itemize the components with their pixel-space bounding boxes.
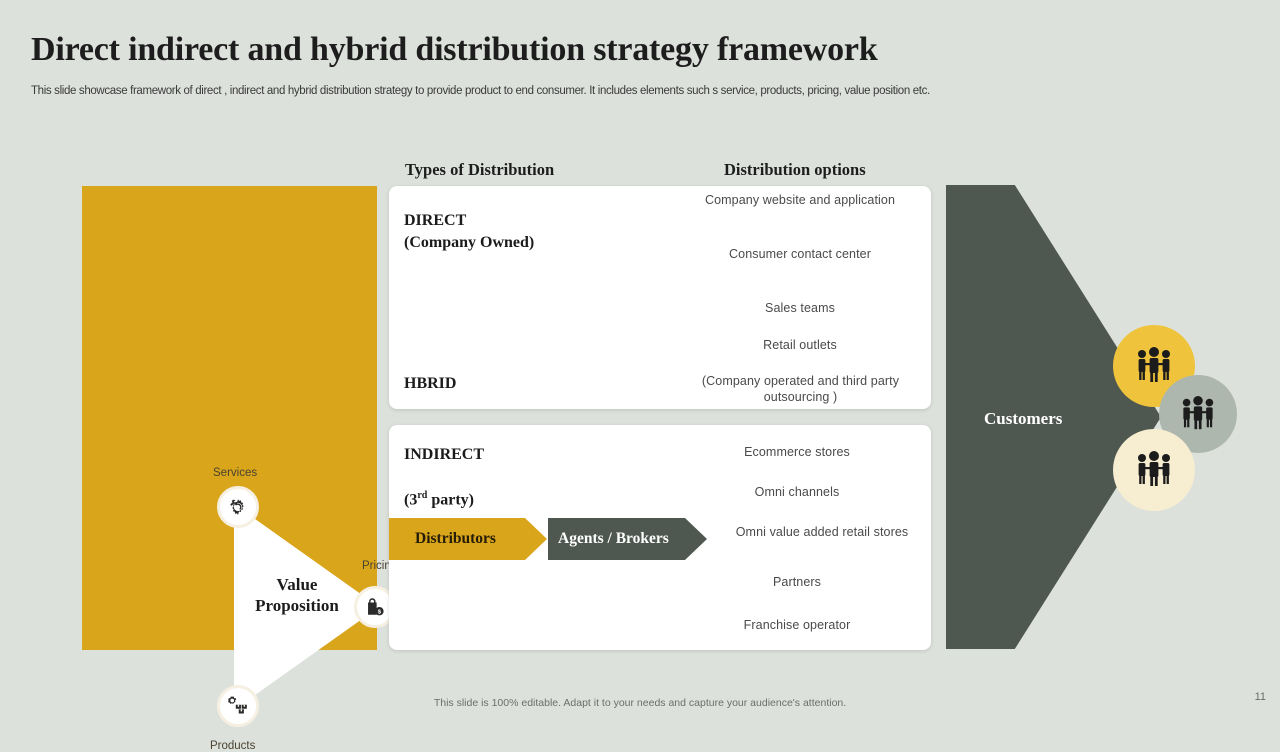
direct-option-0: Company website and application [700,192,900,208]
indirect-option-3: Partners [697,574,897,590]
gear-wrench-icon [227,496,249,518]
indirect-option-0: Ecommerce stores [697,444,897,460]
customers-label: Customers [984,409,1062,429]
direct-option-3: Retail outlets [700,337,900,353]
value-proposition-title: Value Proposition [242,574,352,616]
third-party-label: (3rd party) [404,485,474,511]
footer-note: This slide is 100% editable. Adapt it to… [0,697,1280,709]
distributors-chevron-label: Distributors [389,530,496,548]
direct-type-line1: DIRECT [404,210,534,232]
indirect-option-2: Omni value added retail stores [697,524,947,540]
distributors-chevron[interactable]: Distributors [389,518,547,560]
direct-option-1: Consumer contact center [700,246,900,262]
services-label: Services [213,467,257,479]
indirect-type-label: INDIRECT [404,444,484,466]
direct-option-2: Sales teams [700,300,900,316]
products-label: Products [210,740,255,752]
third-party-suffix: party) [427,491,474,508]
direct-option-4: (Company operated and third party outsou… [698,373,903,405]
value-proposition-line1: Value [242,574,352,595]
agents-brokers-chevron[interactable]: Agents / Brokers [548,518,707,560]
indirect-option-1: Omni channels [697,484,897,500]
third-party-prefix: (3 [404,491,417,508]
value-proposition-panel: Value Proposition Services Pricing $ [82,186,377,650]
third-party-ordinal: rd [417,490,427,501]
customer-circle-3 [1113,429,1195,511]
people-group-icon [1131,450,1177,490]
page-subtitle: This slide showcase framework of direct … [31,85,930,97]
people-group-icon [1176,395,1220,433]
page-title: Direct indirect and hybrid distribution … [31,31,878,69]
hybrid-type-label: HBRID [404,373,456,395]
page-number: 11 [1255,691,1266,703]
direct-type-label: DIRECT (Company Owned) [404,210,534,254]
people-group-icon [1131,346,1177,386]
direct-type-line2: (Company Owned) [404,232,534,254]
slide-canvas: Direct indirect and hybrid distribution … [0,0,1280,720]
value-proposition-line2: Proposition [242,595,352,616]
indirect-option-4: Franchise operator [697,617,897,633]
agents-brokers-chevron-label: Agents / Brokers [548,530,669,548]
services-node[interactable] [217,486,259,528]
price-tag-dollar-icon: $ [364,596,386,618]
column-header-options: Distribution options [724,160,866,180]
column-header-types: Types of Distribution [405,160,554,180]
